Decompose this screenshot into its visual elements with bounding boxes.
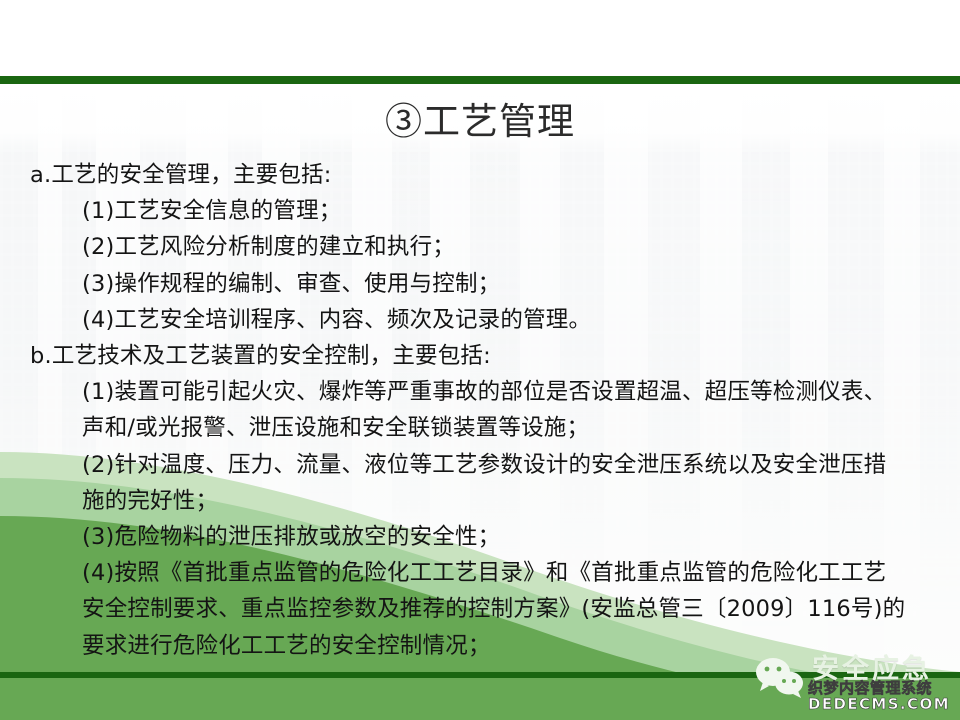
body-line: 施的完好性； — [30, 483, 936, 519]
watermark: 安全应急 织梦内容管理系统 DEDECMS.COM — [746, 646, 942, 712]
watermark-domain: DEDECMS.COM — [808, 696, 950, 713]
body-line: 安全控制要求、重点监控参数及推荐的控制方案》(安监总管三〔2009〕116号)的 — [30, 591, 936, 627]
slide-title: ③工艺管理 — [0, 98, 960, 146]
body-line: (2)针对温度、压力、流量、液位等工艺参数设计的安全泄压系统以及安全泄压措 — [30, 447, 936, 483]
body-line: a.工艺的安全管理，主要包括: — [30, 157, 936, 193]
body-line: b.工艺技术及工艺装置的安全控制，主要包括: — [30, 338, 936, 374]
body-line: (2)工艺风险分析制度的建立和执行； — [30, 229, 936, 265]
body-line: 声和/或光报警、泄压设施和安全联锁装置等设施； — [30, 410, 936, 446]
body-line: (4)工艺安全培训程序、内容、频次及记录的管理。 — [30, 302, 936, 338]
body-line: (3)危险物料的泄压排放或放空的安全性； — [30, 519, 936, 555]
presentation-slide: ③工艺管理 a.工艺的安全管理，主要包括: (1)工艺安全信息的管理； (2)工… — [0, 0, 960, 720]
wechat-icon — [754, 656, 806, 698]
body-line: (4)按照《首批重点监管的危险化工工艺目录》和《首批重点监管的危险化工工艺 — [30, 555, 936, 591]
body-line: (1)工艺安全信息的管理； — [30, 193, 936, 229]
header-dark-rule — [0, 76, 960, 84]
slide-body: a.工艺的安全管理，主要包括: (1)工艺安全信息的管理； (2)工艺风险分析制… — [30, 157, 936, 664]
body-line: (3)操作规程的编制、审查、使用与控制； — [30, 266, 936, 302]
body-line: (1)装置可能引起火灾、爆炸等严重事故的部位是否设置超温、超压等检测仪表、 — [30, 374, 936, 410]
top-white-margin — [0, 0, 960, 76]
